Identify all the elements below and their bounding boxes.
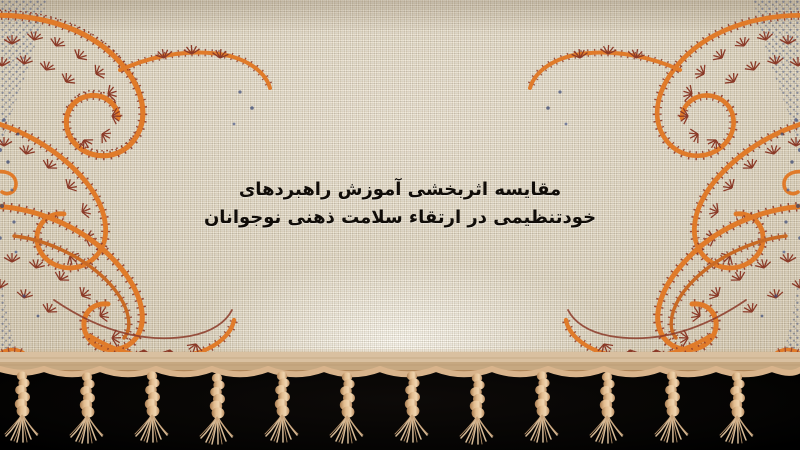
title-slide: مقایسه اثربخشی آموزش راهبردهای خودتنظیمی…	[0, 0, 800, 450]
title-line-1: مقایسه اثربخشی آموزش راهبردهای	[0, 176, 800, 204]
slide-title: مقایسه اثربخشی آموزش راهبردهای خودتنظیمی…	[0, 176, 800, 232]
knotted-tassel-fringe	[0, 352, 800, 450]
title-line-2: خودتنظیمی در ارتقاء سلامت ذهنی نوجوانان	[0, 204, 800, 232]
